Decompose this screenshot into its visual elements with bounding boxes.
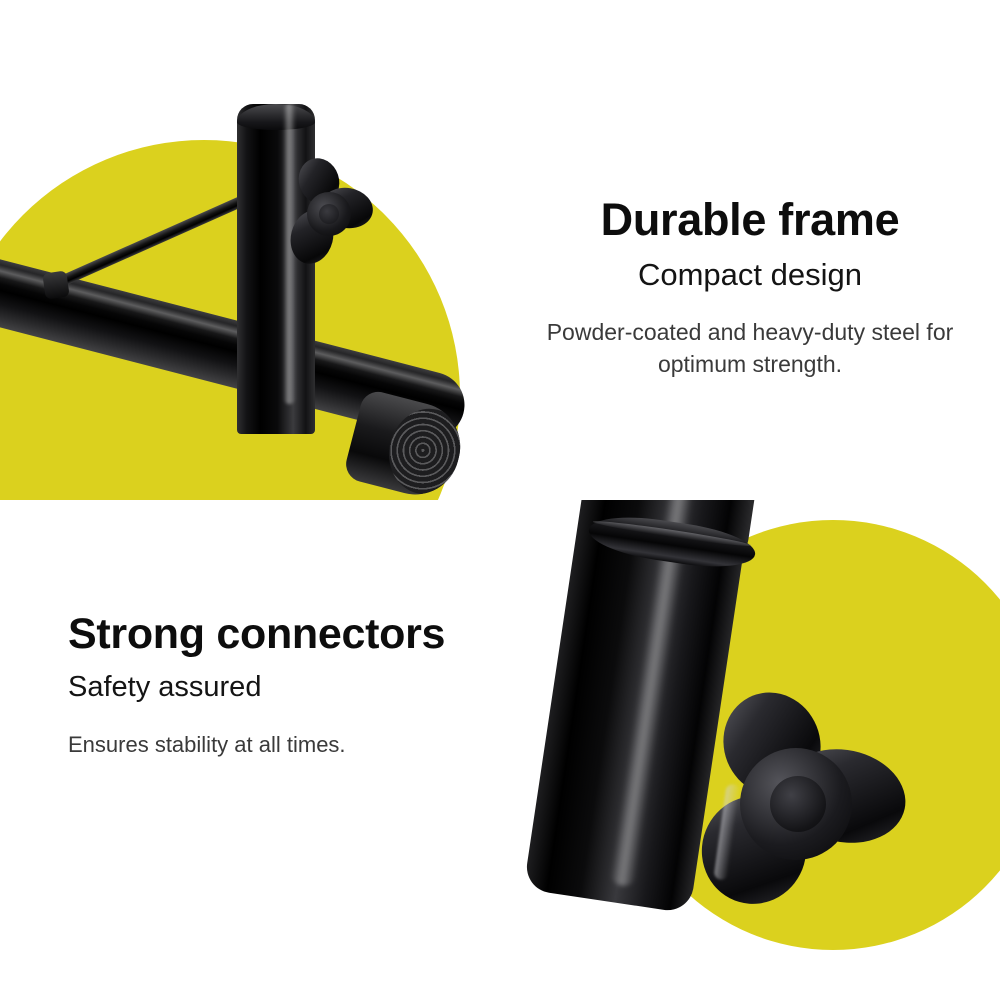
panel-photo-frame-joint: [0, 0, 500, 500]
star-knob: [696, 692, 906, 904]
connector-knob-photo: [500, 500, 1000, 1000]
brace-rod-joint: [42, 270, 69, 299]
knob-hub-center: [770, 776, 826, 832]
upright-tube: [237, 104, 315, 434]
strong-connectors-heading: Strong connectors: [68, 612, 470, 658]
panel-photo-connector-knob: [500, 500, 1000, 1000]
durable-frame-copy: Durable frame Compact design Powder-coat…: [520, 196, 980, 380]
strong-connectors-subheading: Safety assured: [68, 670, 470, 705]
durable-frame-subheading: Compact design: [520, 256, 980, 293]
strong-connectors-copy: Strong connectors Safety assured Ensures…: [68, 612, 470, 761]
panel-text-durable-frame: Durable frame Compact design Powder-coat…: [500, 0, 1000, 500]
star-knob: [287, 158, 373, 266]
knob-hub-center: [319, 204, 339, 224]
panel-text-strong-connectors: Strong connectors Safety assured Ensures…: [0, 500, 500, 1000]
frame-joint-photo: [0, 0, 500, 500]
product-feature-collage: Durable frame Compact design Powder-coat…: [0, 0, 1000, 1000]
strong-connectors-body: Ensures stability at all times.: [68, 730, 470, 760]
durable-frame-body: Powder-coated and heavy-duty steel for o…: [520, 317, 980, 380]
durable-frame-heading: Durable frame: [520, 196, 980, 244]
